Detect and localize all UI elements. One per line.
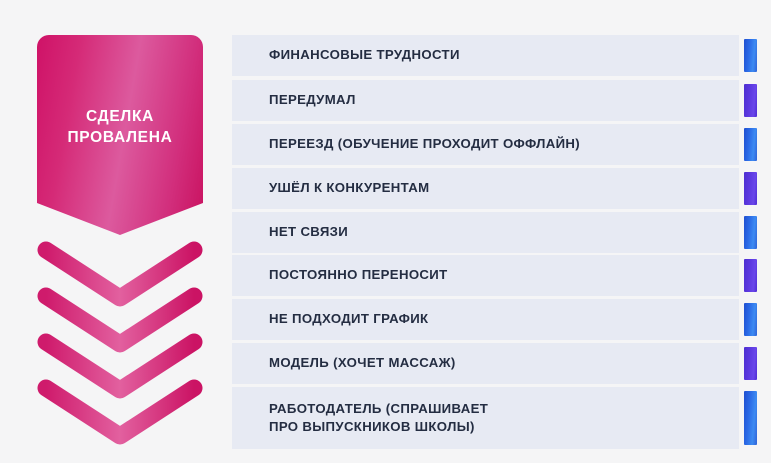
banner-column: СДЕЛКА ПРОВАЛЕНА: [0, 0, 232, 463]
reason-row[interactable]: ПЕРЕЕЗД (ОБУЧЕНИЕ ПРОХОДИТ ОФФЛАЙН): [232, 124, 739, 165]
chevron-arrows-stack: [30, 236, 210, 456]
reason-label: НЕ ПОДХОДИТ ГРАФИК: [232, 310, 442, 328]
row-accent-bar: [744, 216, 757, 249]
reason-label: НЕТ СВЯЗИ: [232, 223, 362, 241]
row-accent-bar: [744, 172, 757, 205]
reason-row[interactable]: УШЁЛ К КОНКУРЕНТАМ: [232, 168, 739, 209]
chevron-down-icon: [46, 250, 194, 436]
row-accent-bar: [744, 391, 757, 445]
reason-label: РАБОТОДАТЕЛЬ (СПРАШИВАЕТ ПРО ВЫПУСКНИКОВ…: [232, 400, 502, 436]
reason-label: ПЕРЕДУМАЛ: [232, 91, 370, 109]
row-accent-bar: [744, 128, 757, 161]
row-accent-bar: [744, 303, 757, 336]
failure-reasons-list: ФИНАНСОВЫЕ ТРУДНОСТИПЕРЕДУМАЛПЕРЕЕЗД (ОБ…: [232, 0, 771, 463]
reason-label: ПОСТОЯННО ПЕРЕНОСИТ: [232, 266, 462, 284]
row-accent-bar: [744, 84, 757, 117]
row-accent-bar: [744, 39, 757, 72]
row-accent-bar: [744, 347, 757, 380]
reason-row[interactable]: РАБОТОДАТЕЛЬ (СПРАШИВАЕТ ПРО ВЫПУСКНИКОВ…: [232, 387, 739, 449]
reason-row[interactable]: МОДЕЛЬ (ХОЧЕТ МАССАЖ): [232, 343, 739, 384]
reason-row[interactable]: ФИНАНСОВЫЕ ТРУДНОСТИ: [232, 35, 739, 76]
reason-label: ФИНАНСОВЫЕ ТРУДНОСТИ: [232, 46, 474, 64]
failed-deal-banner-title: СДЕЛКА ПРОВАЛЕНА: [67, 107, 172, 149]
reason-row[interactable]: НЕТ СВЯЗИ: [232, 212, 739, 253]
row-accent-bar: [744, 259, 757, 292]
reason-row[interactable]: ПОСТОЯННО ПЕРЕНОСИТ: [232, 255, 739, 296]
reason-label: МОДЕЛЬ (ХОЧЕТ МАССАЖ): [232, 354, 470, 372]
reason-row[interactable]: ПЕРЕДУМАЛ: [232, 80, 739, 121]
reason-label: ПЕРЕЕЗД (ОБУЧЕНИЕ ПРОХОДИТ ОФФЛАЙН): [232, 135, 594, 153]
reason-row[interactable]: НЕ ПОДХОДИТ ГРАФИК: [232, 299, 739, 340]
failed-deal-banner: СДЕЛКА ПРОВАЛЕНА: [37, 35, 203, 235]
reason-label: УШЁЛ К КОНКУРЕНТАМ: [232, 179, 443, 197]
